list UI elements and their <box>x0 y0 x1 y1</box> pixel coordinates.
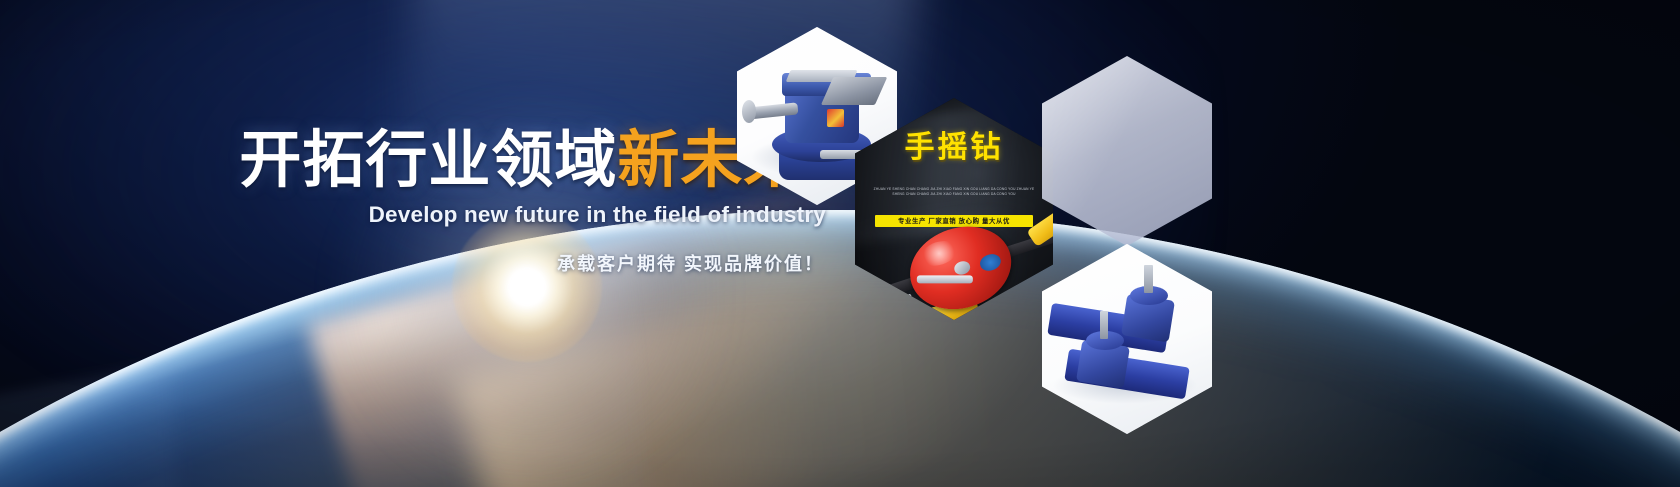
page-title: 开拓行业领域新未来! <box>0 128 830 194</box>
hero-banner: 开拓行业领域新未来! Develop new future in the fie… <box>0 0 1680 487</box>
banner-copy: 开拓行业领域新未来! Develop new future in the fie… <box>0 128 830 276</box>
clamp-bolt-lower <box>1100 311 1109 340</box>
clamp-bolt-upper <box>1144 265 1153 294</box>
headline-tagline-cn: 承载客户期待 实现品牌价值！ <box>0 250 824 276</box>
headline-primary-text: 开拓行业领域 <box>239 126 617 195</box>
vise-brand-sticker <box>827 109 845 127</box>
headline-subtitle-en: Develop new future in the field of indus… <box>0 202 826 228</box>
drill-crank-arm <box>917 275 973 283</box>
